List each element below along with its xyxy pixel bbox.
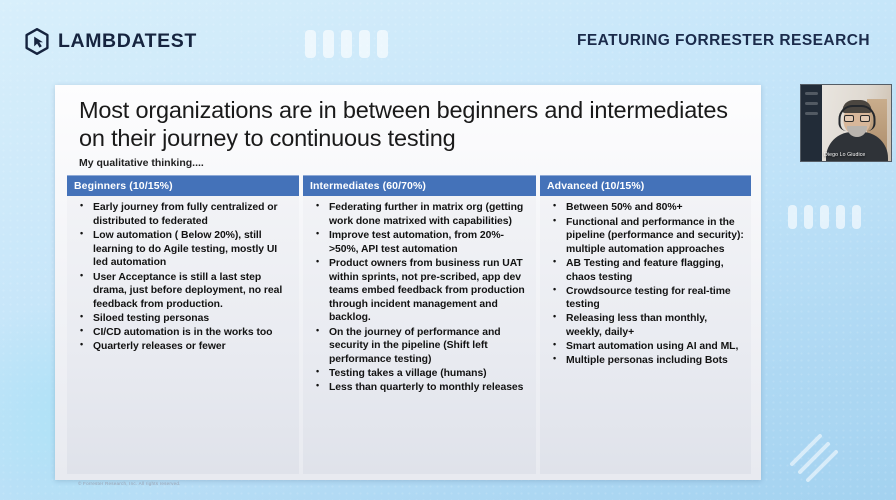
webcam-video-feed <box>822 85 891 161</box>
column-header-beginners: Beginners (10/15%) <box>67 175 299 196</box>
list-item: Smart automation using AI and ML, <box>544 340 745 354</box>
list-item: User Acceptance is still a last step dra… <box>71 271 293 312</box>
brand-logo: LAMBDATEST <box>24 28 197 55</box>
column-body-advanced: Between 50% and 80%+ Functional and perf… <box>540 196 751 474</box>
table-column-beginners: Beginners (10/15%) Early journey from fu… <box>67 175 299 474</box>
brand-name: LAMBDATEST <box>58 30 197 53</box>
top-header-bar: LAMBDATEST FEATURING FORRESTER RESEARCH <box>0 0 896 82</box>
presentation-slide: Most organizations are in between beginn… <box>55 85 761 480</box>
list-item: On the journey of performance and securi… <box>307 326 530 367</box>
table-column-intermediates: Intermediates (60/70%) Federating furthe… <box>303 175 536 474</box>
maturity-table: Beginners (10/15%) Early journey from fu… <box>67 175 749 474</box>
eyeglasses-icon <box>844 115 870 122</box>
webcam-video-tile[interactable]: Diego Lo Giudice <box>800 84 892 162</box>
list-item: Multiple personas including Bots <box>544 354 745 368</box>
list-item: AB Testing and feature flagging, chaos t… <box>544 257 745 284</box>
column-header-advanced: Advanced (10/15%) <box>540 175 751 196</box>
slide-subtitle: My qualitative thinking.... <box>67 157 749 169</box>
participant-name-label: Diego Lo Giudice <box>824 152 865 158</box>
bullet-list-intermediates: Federating further in matrix org (gettin… <box>307 201 530 394</box>
column-header-intermediates: Intermediates (60/70%) <box>303 175 536 196</box>
list-item: Siloed testing personas <box>71 312 293 326</box>
column-body-beginners: Early journey from fully centralized or … <box>67 196 299 474</box>
column-body-intermediates: Federating further in matrix org (gettin… <box>303 196 536 474</box>
list-item: Product owners from business run UAT wit… <box>307 257 530 325</box>
list-item: Quarterly releases or fewer <box>71 340 293 354</box>
featuring-label: FEATURING FORRESTER RESEARCH <box>577 32 870 50</box>
list-item: Functional and performance in the pipeli… <box>544 216 745 257</box>
bullet-list-beginners: Early journey from fully centralized or … <box>71 201 293 353</box>
list-item: Federating further in matrix org (gettin… <box>307 201 530 228</box>
list-item: Crowdsource testing for real-time testin… <box>544 285 745 312</box>
slide-footnote: © Forrester Research, Inc. All rights re… <box>67 474 749 486</box>
table-column-advanced: Advanced (10/15%) Between 50% and 80%+ F… <box>540 175 751 474</box>
lambdatest-hexagon-logo-icon <box>24 28 50 55</box>
bullet-list-advanced: Between 50% and 80%+ Functional and perf… <box>544 201 745 368</box>
list-item: Testing takes a village (humans) <box>307 367 530 381</box>
list-item: Improve test automation, from 20%->50%, … <box>307 229 530 256</box>
list-item: Releasing less than monthly, weekly, dai… <box>544 312 745 339</box>
list-item: Low automation ( Below 20%), still learn… <box>71 229 293 270</box>
list-item: Between 50% and 80%+ <box>544 201 745 215</box>
slide-title: Most organizations are in between beginn… <box>67 97 749 152</box>
list-item: Less than quarterly to monthly releases <box>307 381 530 395</box>
list-item: Early journey from fully centralized or … <box>71 201 293 228</box>
webcam-sidebar-strip <box>801 85 822 161</box>
list-item: CI/CD automation is in the works too <box>71 326 293 340</box>
